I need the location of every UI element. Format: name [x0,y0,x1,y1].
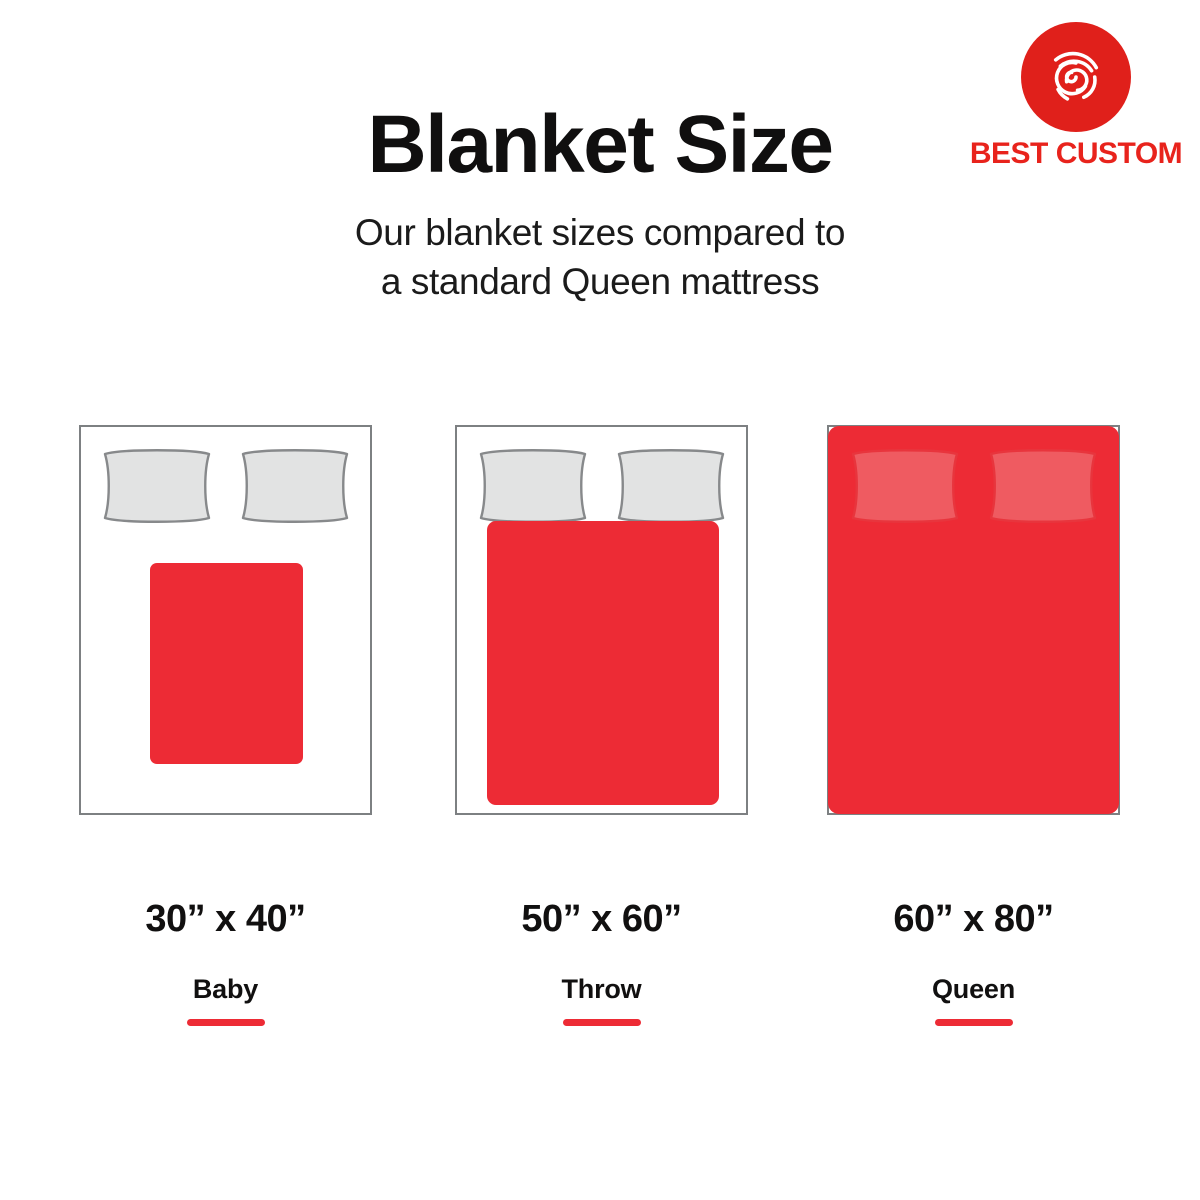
caption-underline [935,1019,1013,1026]
pillow-icon [986,447,1100,525]
captions-row: 30” x 40” Baby 50” x 60” Throw 60” x 80”… [0,900,1200,1040]
beds-row [0,425,1200,817]
pillow-icon [848,447,962,525]
pillow-row [81,447,370,525]
pillow-icon [100,447,214,525]
caption-underline [187,1019,265,1026]
blanket-throw [487,521,719,805]
caption-baby: 30” x 40” Baby [79,900,372,1026]
caption-dimensions: 30” x 40” [79,900,372,938]
pillow-icon [614,447,728,525]
caption-throw: 50” x 60” Throw [455,900,748,1026]
heading-block: Blanket Size Our blanket sizes compared … [0,104,1200,306]
bed-diagram-queen [827,425,1120,815]
bed-diagram-throw [455,425,748,815]
page-title: Blanket Size [0,104,1200,186]
blanket-queen [828,426,1119,814]
page-subtitle-line-2: a standard Queen mattress [250,257,950,306]
blanket-baby [150,563,303,764]
bed-diagram-baby [79,425,372,815]
caption-size-name: Queen [827,976,1120,1003]
page-subtitle: Our blanket sizes compared to a standard… [250,208,950,306]
caption-dimensions: 50” x 60” [455,900,748,938]
pillow-row-covered [828,447,1119,525]
caption-size-name: Baby [79,976,372,1003]
page-subtitle-line-1: Our blanket sizes compared to [250,208,950,257]
caption-dimensions: 60” x 80” [827,900,1120,938]
pillow-icon [476,447,590,525]
caption-queen: 60” x 80” Queen [827,900,1120,1026]
caption-size-name: Throw [455,976,748,1003]
pillow-row [457,447,746,525]
pillow-icon [238,447,352,525]
caption-underline [563,1019,641,1026]
